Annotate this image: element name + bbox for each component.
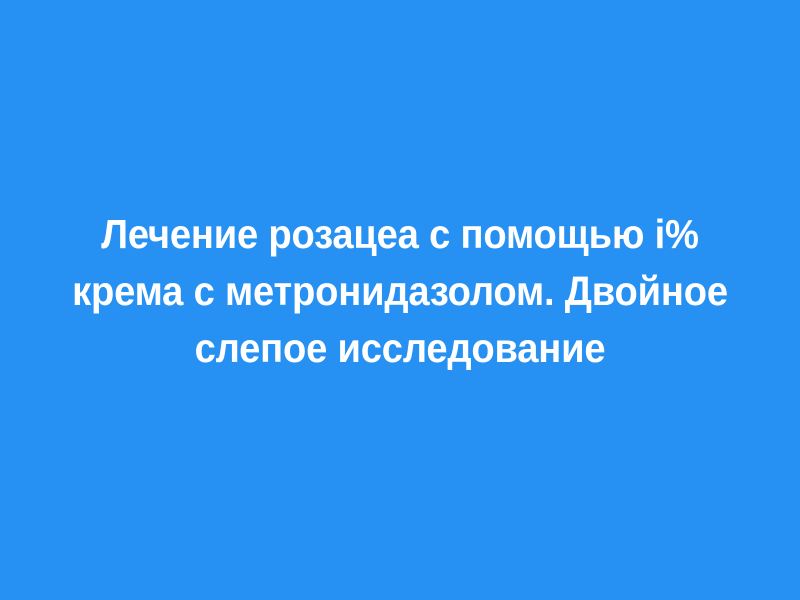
title-line-1: Лечение розацеа с помощью i% <box>65 206 735 263</box>
slide-canvas: Лечение розацеа с помощью i% крема с мет… <box>0 0 800 600</box>
page-title: Лечение розацеа с помощью i% крема с мет… <box>0 206 800 377</box>
title-line-2: крема с метронидазолом. Двойное <box>65 263 735 320</box>
title-line-3: слепое исследование <box>65 320 735 377</box>
